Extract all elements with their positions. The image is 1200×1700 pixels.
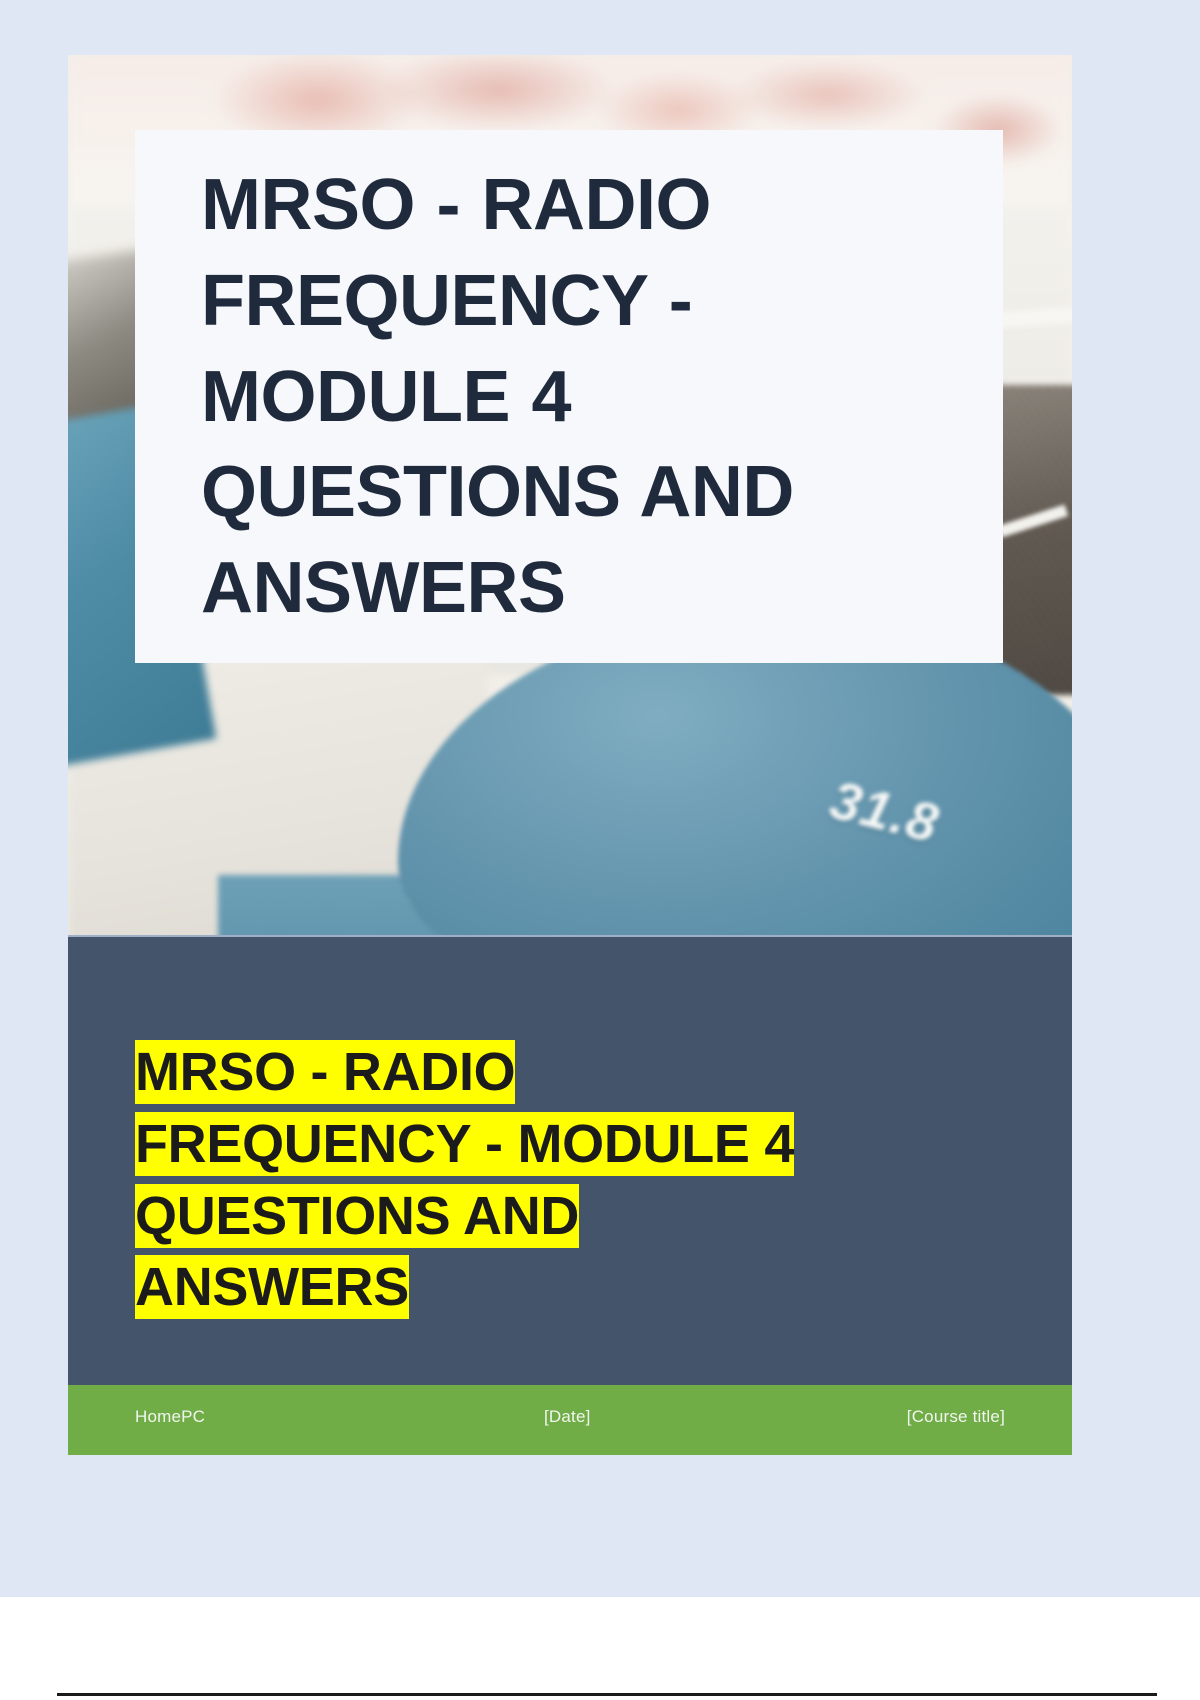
footer-course-title: [Course title] bbox=[907, 1407, 1005, 1427]
cover-slate-band: MRSO - RADIO FREQUENCY - MODULE 4 QUESTI… bbox=[68, 935, 1072, 1387]
subtitle-line: ANSWERS bbox=[135, 1255, 409, 1319]
subtitle-block: MRSO - RADIO FREQUENCY - MODULE 4 QUESTI… bbox=[135, 1037, 1015, 1324]
subtitle-line: FREQUENCY - MODULE 4 bbox=[135, 1112, 794, 1176]
document-subtitle: MRSO - RADIO FREQUENCY - MODULE 4 QUESTI… bbox=[135, 1037, 1015, 1324]
page-title: MRSO - RADIO FREQUENCY - MODULE 4 QUESTI… bbox=[135, 158, 1003, 637]
page-separator-rule bbox=[57, 1693, 1157, 1696]
cover-footer-bar: HomePC [Date] [Course title] bbox=[68, 1385, 1072, 1455]
subtitle-line: MRSO - RADIO bbox=[135, 1040, 515, 1104]
subtitle-line: QUESTIONS AND bbox=[135, 1184, 579, 1248]
document-cover-page: 31.8 MRSO - RADIO FREQUENCY - MODULE 4 Q… bbox=[68, 55, 1072, 1527]
footer-date: [Date] bbox=[544, 1407, 591, 1427]
footer-author: HomePC bbox=[135, 1407, 205, 1427]
cover-title-card: MRSO - RADIO FREQUENCY - MODULE 4 QUESTI… bbox=[135, 130, 1003, 663]
